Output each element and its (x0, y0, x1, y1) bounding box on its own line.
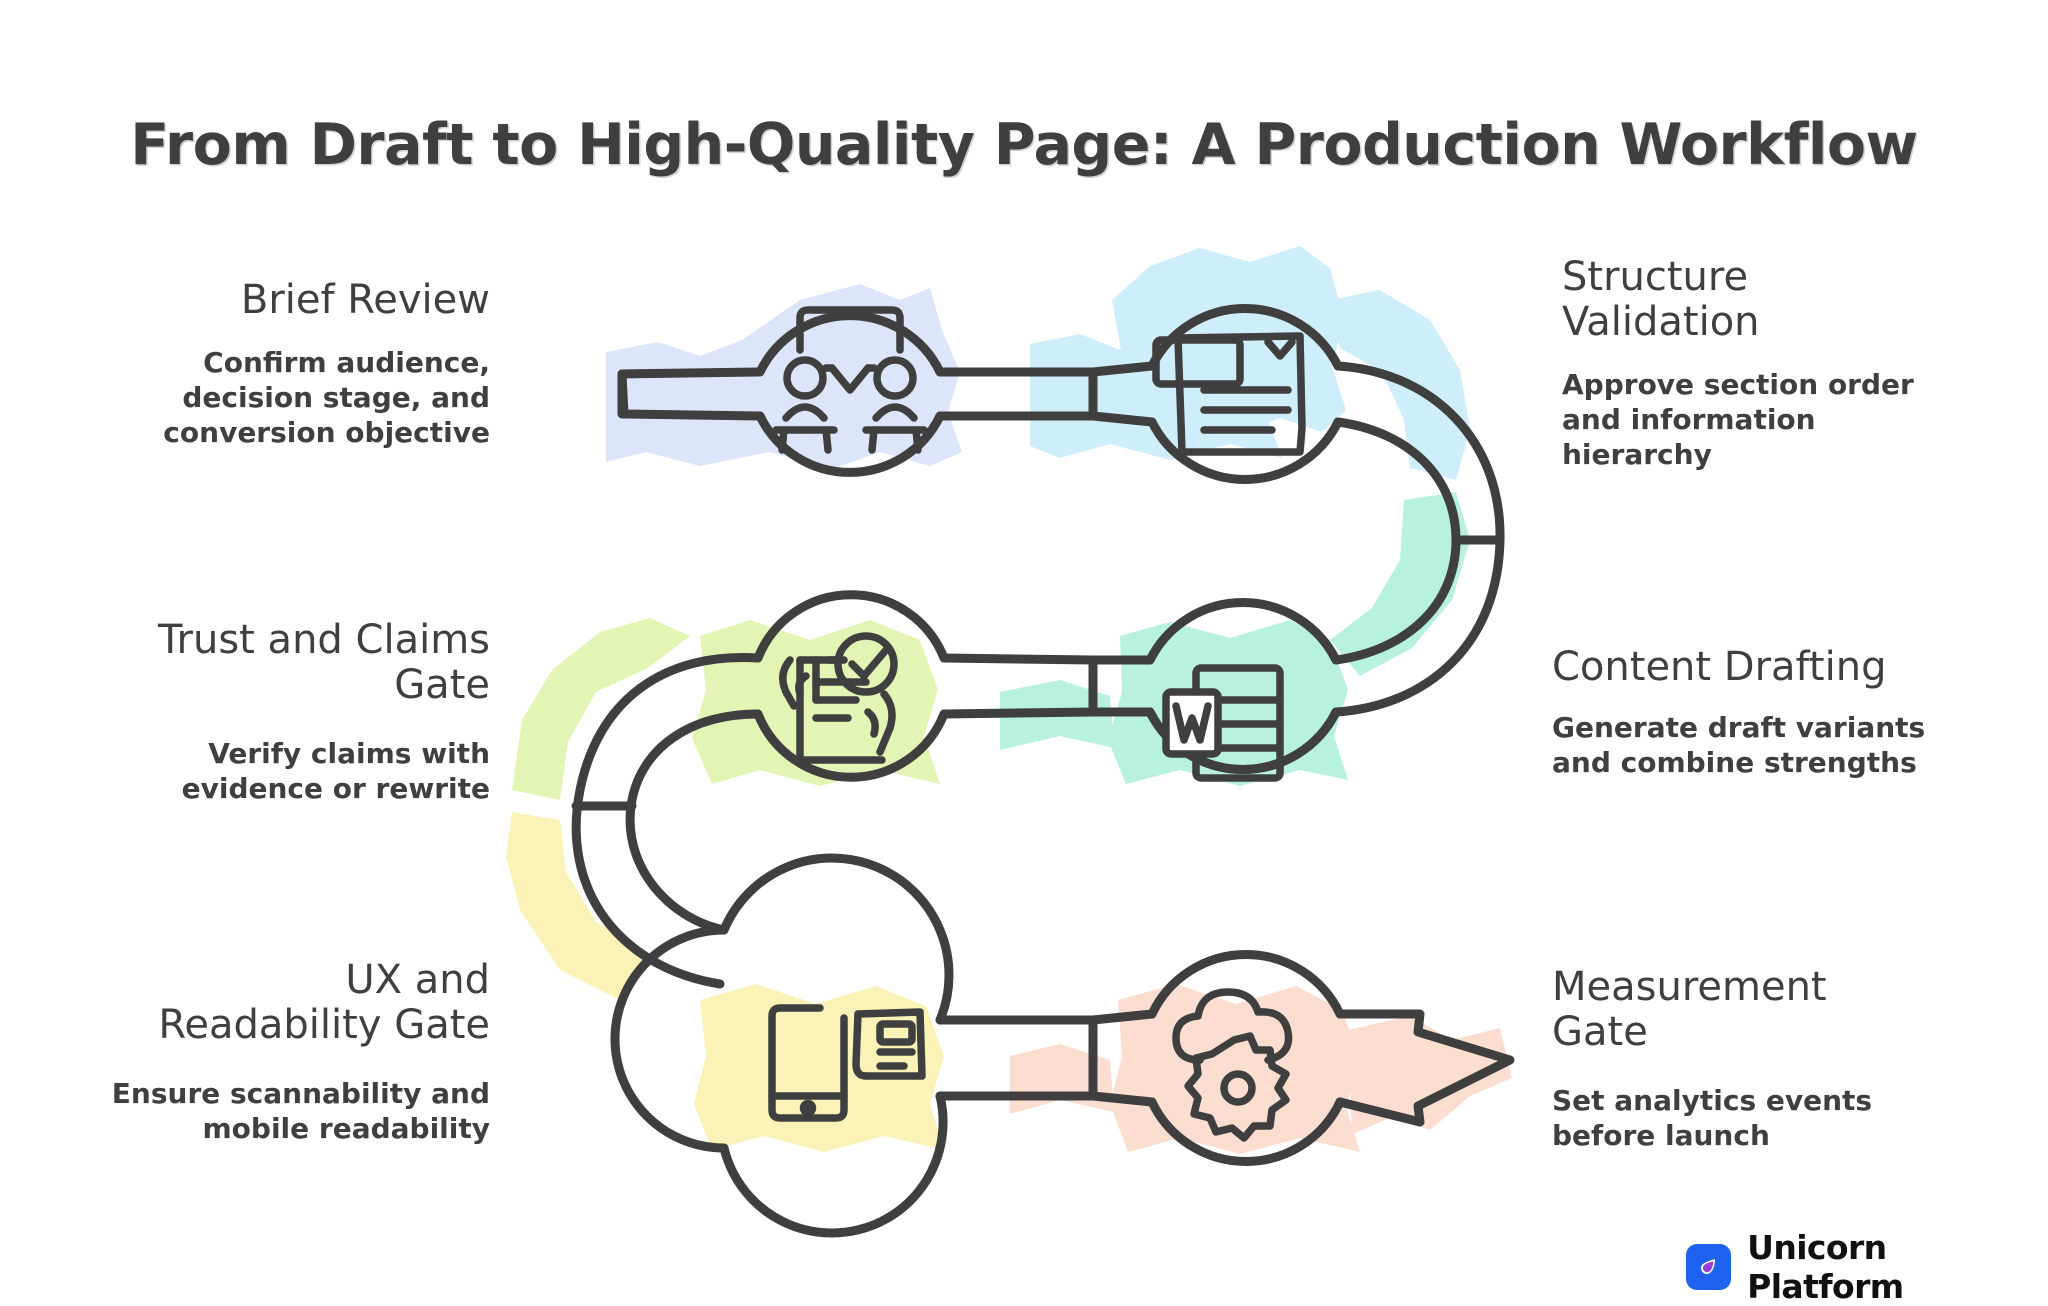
step-body: Approve section order and information hi… (1562, 367, 2002, 473)
infographic-canvas: From Draft to High-Quality Page: A Produ… (0, 0, 2048, 1302)
row1-color-wash (606, 246, 1470, 676)
step-body: Confirm audience, decision stage, and co… (60, 345, 490, 451)
wash-bar5 (1010, 1044, 1114, 1114)
tail-start-top (622, 372, 758, 374)
step-block-ux-and-readability-gate: UX and Readability Gate Ensure scannabil… (30, 958, 490, 1146)
bar5b-bottom (1093, 1096, 1152, 1102)
step-block-brief-review: Brief Review Confirm audience, decision … (60, 278, 490, 451)
step-block-content-drafting: Content Drafting Generate draft variants… (1552, 645, 2012, 780)
step-heading: Structure Validation (1562, 255, 2002, 345)
step-heading: Brief Review (60, 278, 490, 323)
step-body: Set analytics events before launch (1552, 1083, 2012, 1154)
step-heading: Content Drafting (1552, 645, 2012, 690)
wash-ubend-left-top (512, 618, 690, 800)
step-heading: Measurement Gate (1552, 965, 2012, 1055)
bar1b-bottom (1093, 416, 1152, 422)
step-block-measurement-gate: Measurement Gate Set analytics events be… (1552, 965, 2012, 1153)
bar3-top-left (944, 712, 1093, 714)
step-block-structure-validation: Structure Validation Approve section ord… (1562, 255, 2002, 472)
bar1b-top (1093, 366, 1152, 372)
bar5b-top (1093, 1014, 1152, 1020)
bar3-bottom-left (944, 658, 1093, 660)
step-body: Generate draft variants and combine stre… (1552, 710, 2012, 781)
brand-wordmark: Unicorn Platform (1747, 1228, 2048, 1306)
step-body: Verify claims with evidence or rewrite (40, 736, 490, 807)
step-body: Ensure scannability and mobile readabili… (30, 1076, 490, 1147)
step-heading: UX and Readability Gate (30, 958, 490, 1048)
step-block-trust-and-claims-gate: Trust and Claims Gate Verify claims with… (40, 618, 490, 806)
unicorn-droplet-icon (1686, 1244, 1731, 1290)
brand-logo[interactable]: Unicorn Platform (1686, 1228, 2048, 1306)
step-heading: Trust and Claims Gate (40, 618, 490, 708)
